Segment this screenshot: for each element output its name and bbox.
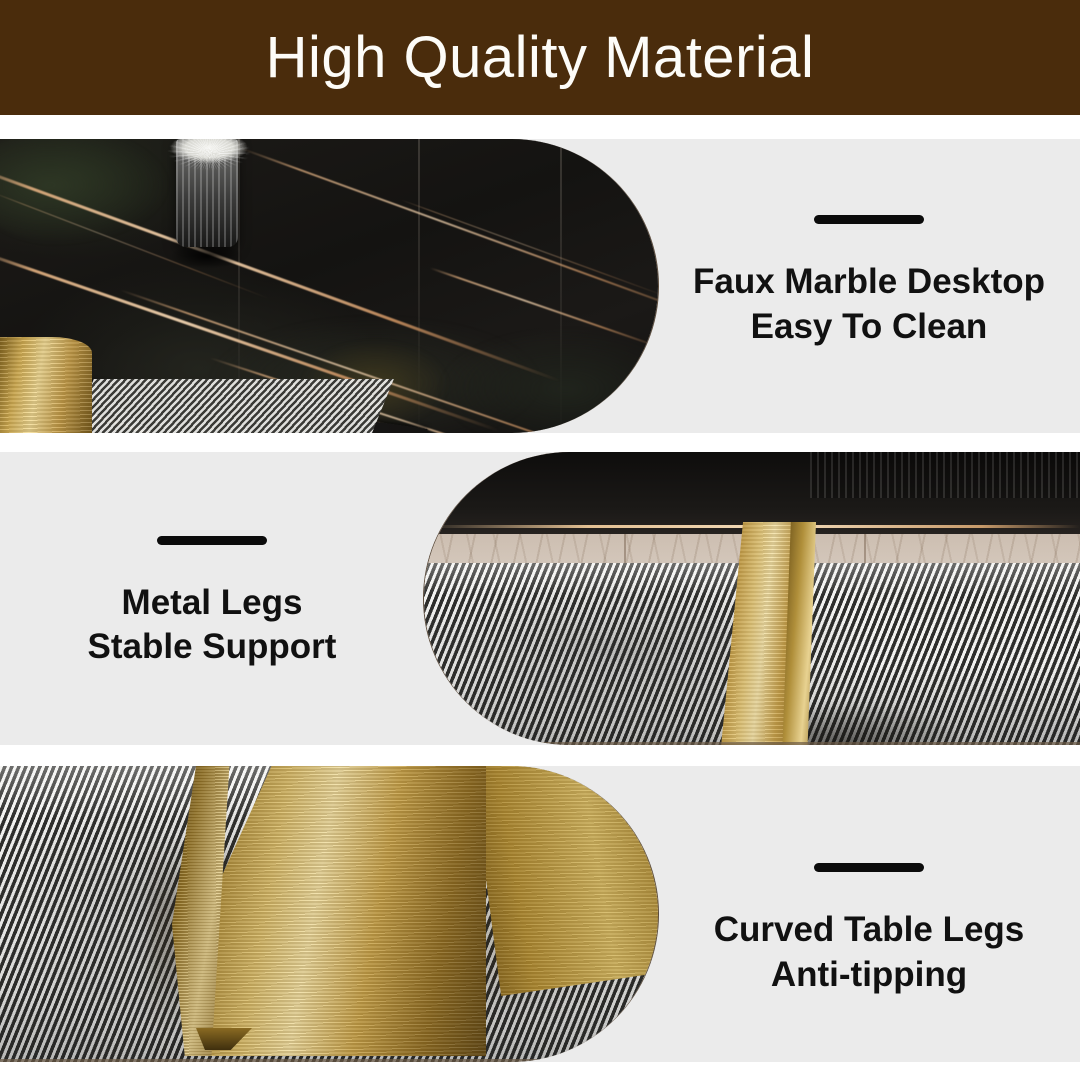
striped-rug [72, 379, 394, 433]
caption-line-1: Curved Table Legs [714, 908, 1025, 952]
feature-caption-metal-legs: Metal Legs Stable Support [0, 456, 424, 745]
feature-panel-metal-legs: Metal Legs Stable Support [0, 452, 1080, 745]
room-scene-graphic [424, 452, 1080, 745]
tabletop-ribbed-detail [810, 452, 1080, 498]
caption-dash-icon [157, 536, 267, 545]
feature-panel-curved-table-legs: Curved Table Legs Anti-tipping [0, 766, 1080, 1062]
infographic-page: High Quality Material [0, 0, 1080, 1080]
marble-surface-graphic [0, 139, 658, 433]
header-banner: High Quality Material [0, 0, 1080, 115]
feature-image-faux-marble-desktop [0, 139, 659, 433]
page-title: High Quality Material [266, 29, 815, 87]
feature-image-curved-table-legs [0, 766, 659, 1062]
gold-table-leg-back-face [470, 766, 659, 996]
image-bottom-border [424, 742, 1080, 745]
caption-line-1: Metal Legs [122, 581, 303, 625]
marble-vein [400, 199, 659, 299]
image-bottom-border [0, 1059, 658, 1062]
caption-line-2: Stable Support [88, 625, 337, 669]
feature-image-metal-legs [423, 452, 1080, 745]
caption-dash-icon [814, 863, 924, 872]
caption-line-1: Faux Marble Desktop [693, 260, 1045, 304]
caption-line-2: Anti-tipping [771, 953, 967, 997]
white-flower [150, 139, 268, 171]
caption-dash-icon [814, 215, 924, 224]
marble-vein [240, 147, 659, 326]
feature-caption-faux-marble-desktop: Faux Marble Desktop Easy To Clean [658, 139, 1080, 429]
feature-caption-curved-table-legs: Curved Table Legs Anti-tipping [658, 782, 1080, 1062]
feature-panel-faux-marble-desktop: Faux Marble Desktop Easy To Clean [0, 139, 1080, 433]
gold-table-leg [0, 337, 92, 433]
caption-line-2: Easy To Clean [751, 305, 988, 349]
rug-closeup-graphic [0, 766, 658, 1062]
marble-tabletop-edge [424, 452, 1080, 534]
